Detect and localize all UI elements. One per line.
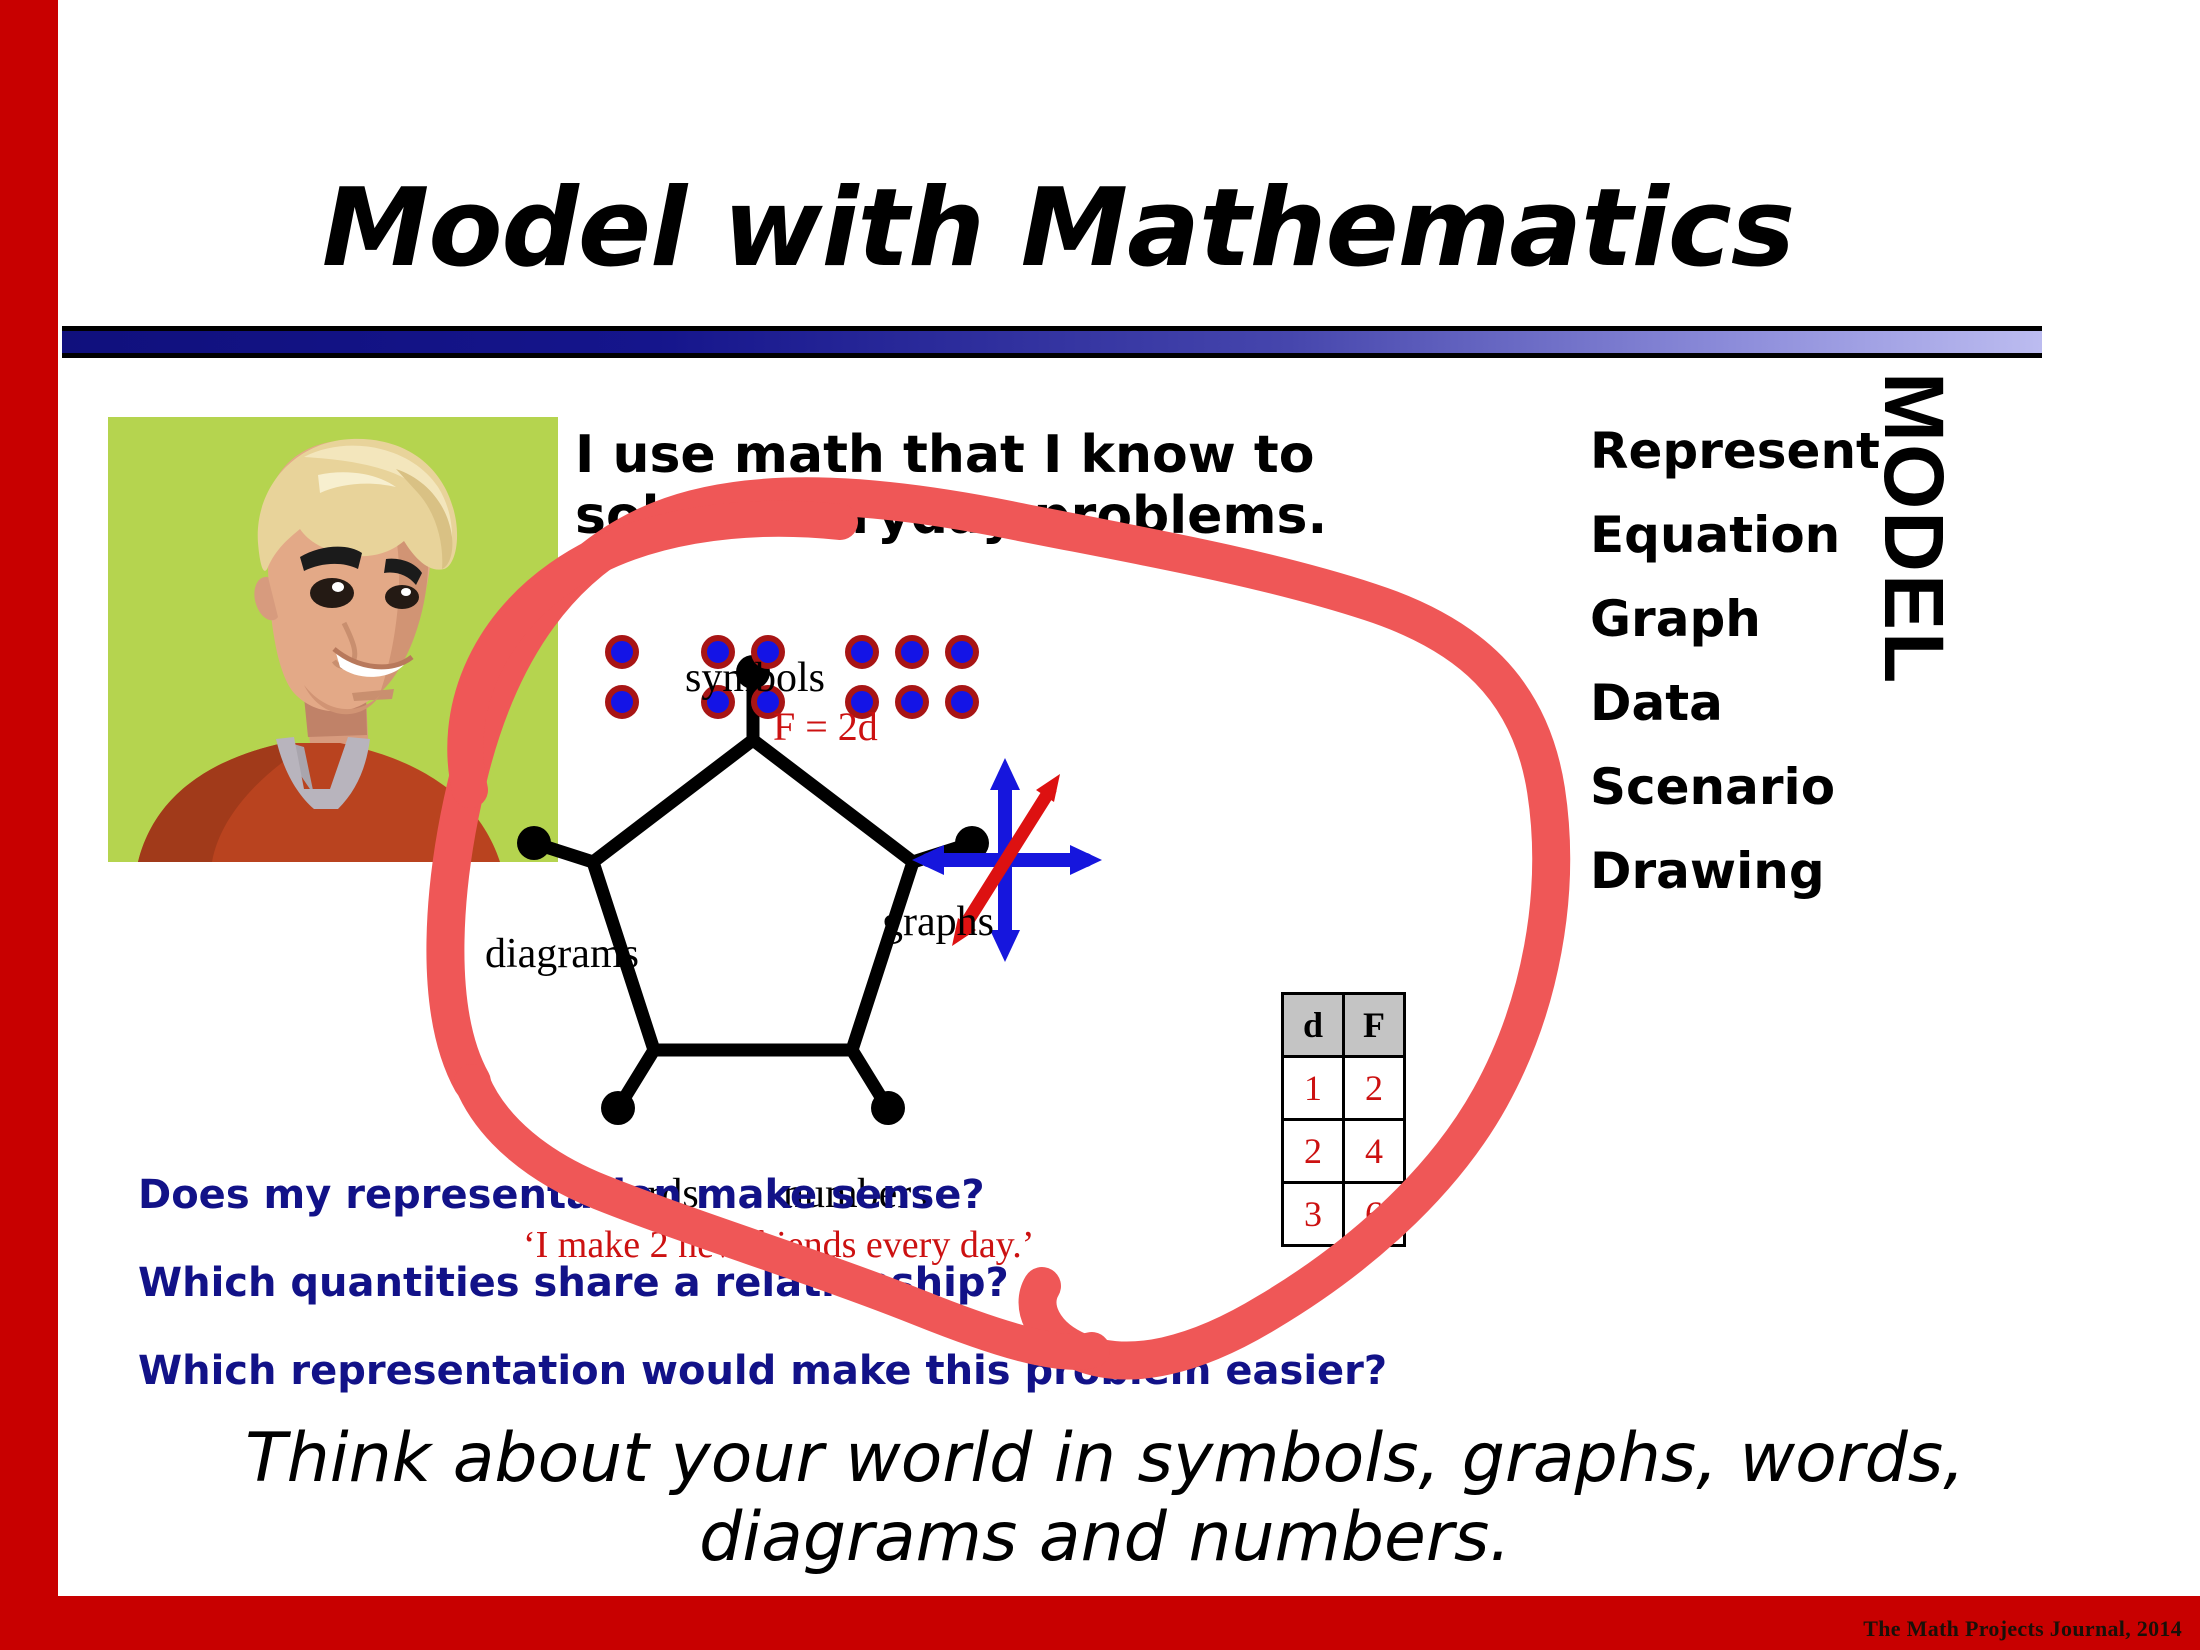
footer-credit: The Math Projects Journal, 2014 [1863,1616,2182,1642]
question-list: Does my representation make sense? Which… [138,1172,1238,1436]
dot [845,635,879,669]
table-cell: 4 [1344,1120,1405,1183]
question-1: Does my representation make sense? [138,1172,1238,1218]
vertex-label-symbols: symbols [685,654,825,702]
table-header-row: d F [1283,994,1405,1057]
dot [605,635,639,669]
slide-canvas: Model with Mathematics [0,0,2200,1650]
equation-label: F = 2d [773,703,878,750]
table-header-d: d [1283,994,1344,1057]
keyword-drawing: Drawing [1590,845,1920,897]
closing-line-1: Think about your world in symbols, graph… [100,1420,2110,1499]
table-cell: 2 [1344,1057,1405,1120]
table-cell: 2 [1283,1120,1344,1183]
page-title: Model with Mathematics [58,166,2058,291]
vertex-label-graphs: graphs [882,898,994,946]
gradient-divider-bar [62,326,2042,358]
table-row: 3 6 [1283,1183,1405,1246]
table-header-f: F [1344,994,1405,1057]
table-row: 2 4 [1283,1120,1405,1183]
dot [945,635,979,669]
data-table: d F 1 2 2 4 3 6 [1281,992,1406,1247]
closing-statement: Think about your world in symbols, graph… [100,1420,2110,1578]
vertex-label-diagrams: diagrams [485,930,639,978]
closing-line-2: diagrams and numbers. [100,1499,2110,1578]
left-red-border [0,0,58,1650]
table-cell: 1 [1283,1057,1344,1120]
table-row: 1 2 [1283,1057,1405,1120]
table-cell: 6 [1344,1183,1405,1246]
question-3: Which representation would make this pro… [138,1348,1238,1394]
dot [945,685,979,719]
table-cell: 3 [1283,1183,1344,1246]
dot [895,635,929,669]
vertical-model-label: MODEL [1865,372,1962,792]
question-2: Which quantities share a relationship? [138,1260,1238,1306]
dot [605,685,639,719]
dot [895,685,929,719]
